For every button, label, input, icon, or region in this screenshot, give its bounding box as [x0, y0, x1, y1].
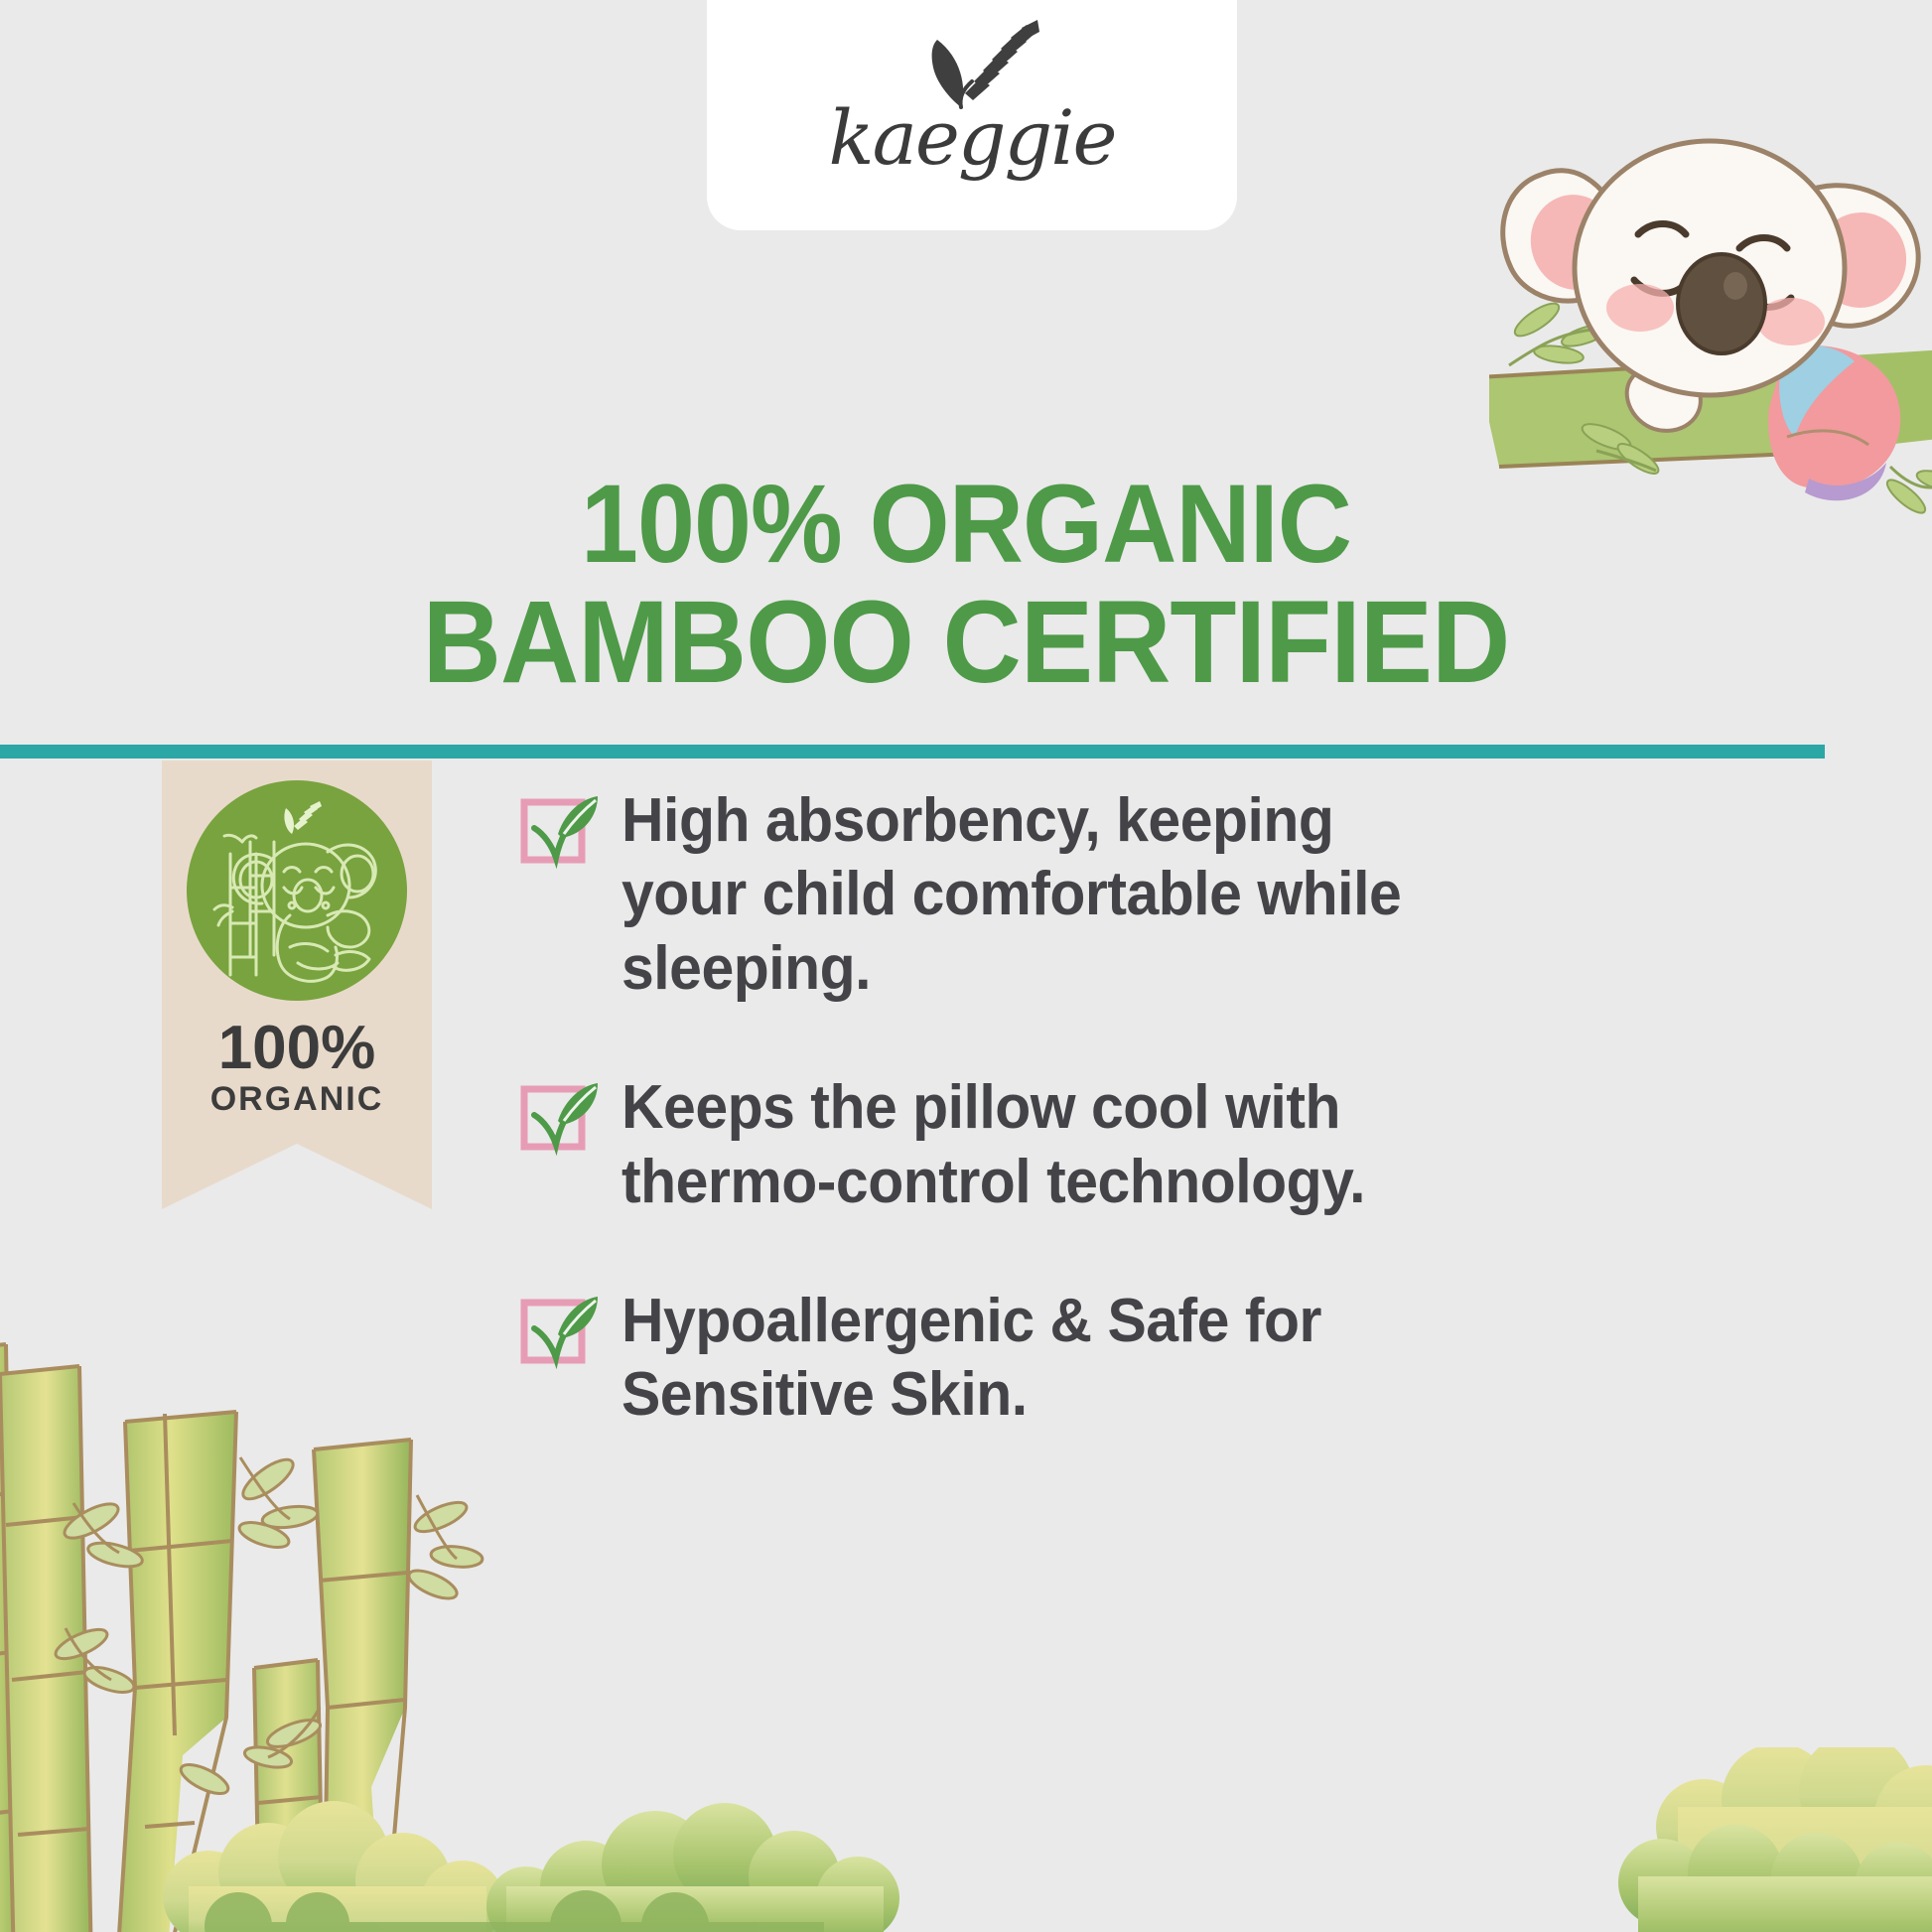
- page-title: 100% ORGANIC BAMBOO CERTIFIED: [68, 467, 1864, 704]
- feature-text: Keeps the pillow cool with thermo-contro…: [621, 1071, 1466, 1219]
- list-item: High absorbency, keeping your child comf…: [518, 784, 1511, 1006]
- brand-logo-card: kaeggie: [707, 0, 1237, 230]
- organic-badge: 100% ORGANIC: [162, 760, 432, 1209]
- leaf-check-icon: [518, 1077, 600, 1159]
- headline-line-1: 100% ORGANIC: [581, 462, 1351, 586]
- feature-text: High absorbency, keeping your child comf…: [621, 784, 1466, 1006]
- headline-line-2: BAMBOO CERTIFIED: [68, 582, 1864, 704]
- koala-bamboo-badge-icon: [187, 780, 407, 1001]
- poster-canvas: kaeggie: [0, 0, 1932, 1932]
- watercolor-bush-illustration: [149, 1777, 903, 1932]
- feature-text: Hypoallergenic & Safe for Sensitive Skin…: [621, 1285, 1466, 1433]
- list-item: Hypoallergenic & Safe for Sensitive Skin…: [518, 1285, 1511, 1433]
- brand-wordmark: kaeggie: [707, 93, 1237, 182]
- badge-label: ORGANIC: [162, 1080, 432, 1119]
- list-item: Keeps the pillow cool with thermo-contro…: [518, 1071, 1511, 1219]
- leaf-check-icon: [518, 1291, 600, 1372]
- feature-list: High absorbency, keeping your child comf…: [518, 784, 1511, 1433]
- section-divider: [0, 745, 1825, 759]
- badge-percent: 100%: [162, 1013, 432, 1083]
- leaf-check-icon: [518, 790, 600, 872]
- watercolor-bush-illustration: [1608, 1747, 1932, 1932]
